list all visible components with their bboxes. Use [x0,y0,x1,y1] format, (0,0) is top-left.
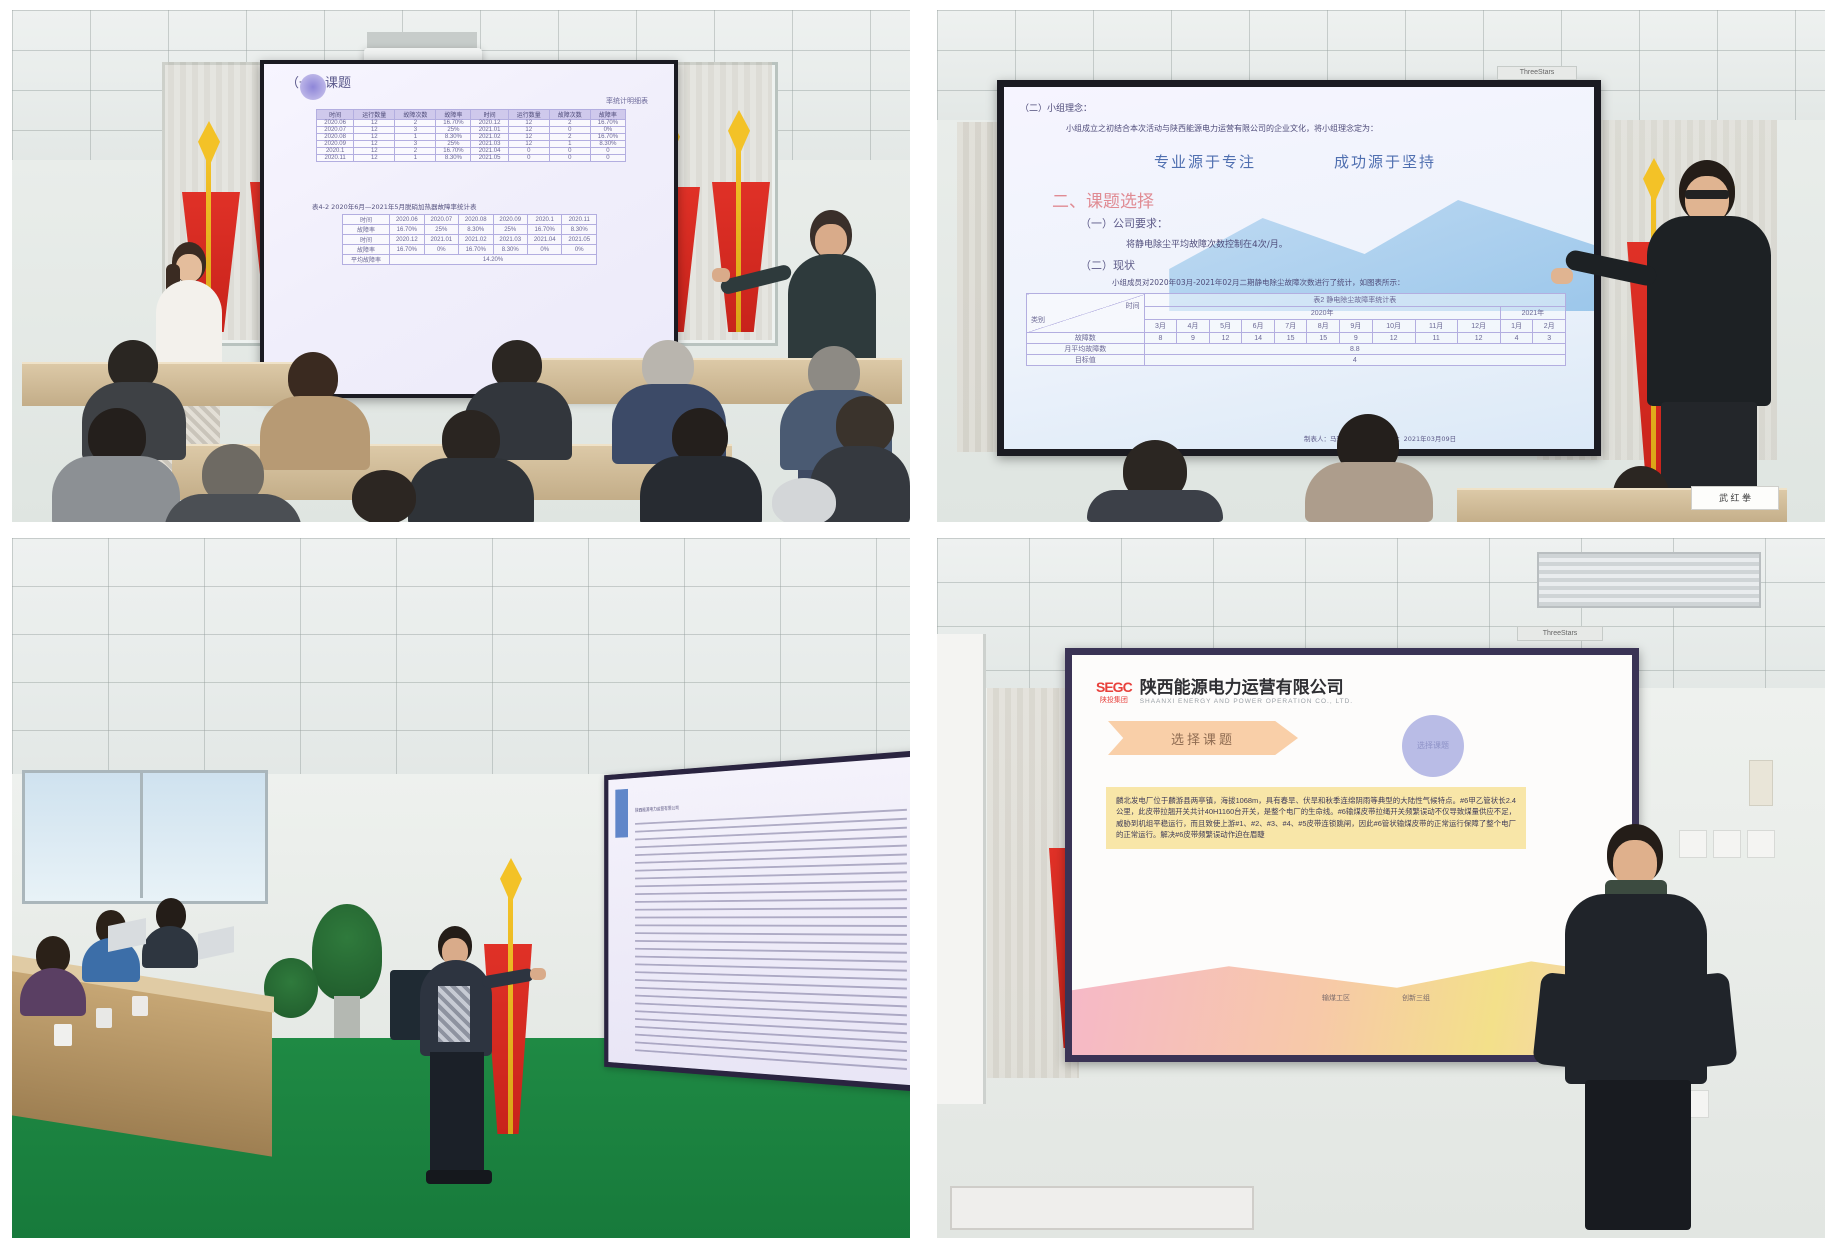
photo-bottom-right: SEGC 陕投集团 陕西能源电力运营有限公司 SHAANXI ENERGY AN… [937,538,1825,1238]
slide-tl-th: 故障率 [590,110,625,120]
table-row: 时间2020.062020.072020.082020.092020.12020… [343,215,597,225]
slide-br-badge: 选择课题 [1402,715,1464,777]
photo-top-left: （一）课题 率统计明细表 时间运行数量故障次数故障率时间运行数量故障次数故障率2… [12,10,910,522]
slide-br-footer-right: 创新三组 [1402,993,1430,1003]
photo-collage: （一）课题 率统计明细表 时间运行数量故障次数故障率时间运行数量故障次数故障率2… [0,0,1837,1249]
wall-socket [1747,830,1775,858]
projector-mount [367,32,477,48]
table-row: 2020.111218.30%2021.05000 [317,155,626,162]
slide-br-body-block: 麟北发电厂位于麟游县两亭镇，海拔1068m，具有春旱、伏旱和秋季连绵阴雨等典型的… [1106,787,1526,849]
cup [54,1024,72,1046]
company-en: SHAANXI ENERGY AND POWER OPERATION CO., … [1140,698,1353,705]
table-row-summary: 平均故障率14.20% [343,255,597,265]
table-row: 2020.081218.30%2021.0212216.70% [317,134,626,141]
table-row: 故障率16.70%25%8.30%25%16.70%8.30% [343,225,597,235]
slide-tr-status-label: （二）现状 [1080,257,1135,273]
ink-blot-decoration [300,74,326,100]
projector-brand-label: ThreeStars [1517,626,1603,641]
glasses [1685,190,1729,199]
plant-foliage [312,904,382,1000]
slide-tr: （二）小组理念： 小组成立之初结合本次活动与陕西能源电力运营有限公司的企业文化，… [1004,87,1594,449]
slide-tr-line1: （二）小组理念： [1020,101,1092,114]
slide-tl-th: 故障率 [436,110,471,120]
cup [96,1008,112,1028]
slide-tr-status-text: 小组成员对2020年03月-2021年02月二期静电除尘故障次数进行了统计，如图… [1112,277,1404,288]
slide-tr-req-label: （一）公司要求： [1080,215,1168,231]
slide-bl-sidebar-tag [615,789,628,838]
table-row: 2020.0712325%2021.011200% [317,127,626,134]
table-row: 月平均故障数8.8 [1027,344,1566,355]
mountain-decoration [1169,161,1594,311]
slide-tr-line2: 小组成立之初结合本次活动与陕西能源电力运营有限公司的企业文化，将小组理念定为： [1066,123,1378,134]
table-row: 时间2020.122021.012021.022021.032021.04202… [343,235,597,245]
arm-left [1532,972,1587,1068]
arm-right [1684,972,1737,1068]
slide-br-brand: SEGC 陕投集团 陕西能源电力运营有限公司 SHAANXI ENERGY AN… [1096,673,1353,705]
window [22,770,268,904]
slide-tr-motto-right: 成功源于坚持 [1334,151,1436,172]
projection-screen-tr: （二）小组理念： 小组成立之初结合本次活动与陕西能源电力运营有限公司的企业文化，… [997,80,1601,456]
table-row: 时间类别表2 静电除尘故障率统计表 [1027,294,1566,307]
company-cn: 陕西能源电力运营有限公司 [1140,673,1353,698]
presenter-male [1547,824,1727,1238]
table-row: 故障数8912141515912111243 [1027,333,1566,344]
slide-tl-th: 运行数量 [508,110,549,120]
brand-abbr: SEGC [1096,679,1132,695]
lower-cabinet [950,1186,1254,1230]
slide-br-banner: 选择课题 [1108,721,1298,755]
sweater-pattern [438,986,470,1042]
banner-label: 选择课题 [1171,729,1235,748]
window-mullion [140,770,143,898]
cup [132,996,148,1016]
projector-brand-label: ThreeStars [1497,66,1577,80]
slide-tl-table-summary: 时间2020.062020.072020.082020.092020.12020… [342,214,597,265]
slide-tl-th: 故障次数 [395,110,436,120]
slide-tr-req-text: 将静电除尘平均故障次数控制在4次/月。 [1126,237,1288,250]
slide-tl-table-detail: 时间运行数量故障次数故障率时间运行数量故障次数故障率2020.0612216.7… [316,109,626,162]
plant-pot [334,996,360,1038]
wall-sign [1749,760,1773,806]
photo-top-right: （二）小组理念： 小组成立之初结合本次活动与陕西能源电力运营有限公司的企业文化，… [937,10,1825,522]
slide-br-body-text: 麟北发电厂位于麟游县两亭镇，海拔1068m，具有春旱、伏旱和秋季连绵阴雨等典型的… [1116,795,1516,841]
projection-screen-bl: 陕西能源电力运营有限公司 [604,750,910,1092]
slide-tl-th: 时间 [317,110,354,120]
air-vent [1537,552,1761,608]
table-row: 2020.0912325%2021.031218.30% [317,141,626,148]
slide-tl-table2-caption: 表4-2 2020年6月—2021年5月脱硝加热器故障率统计表 [312,201,477,211]
slide-tl-th: 时间 [471,110,508,120]
adjacent-screen [937,634,986,1104]
slide-tr-section-title: 二、课题选择 [1052,187,1154,212]
slide-tr-motto-left: 专业源于专注 [1154,151,1256,172]
table-row: 2020.0612216.70%2020.1212216.70% [317,120,626,127]
photo-bottom-left: 陕西能源电力运营有限公司 [12,538,910,1238]
presenter-male [404,926,514,1206]
ceiling [12,538,910,774]
slide-tr-fault-table: 时间类别表2 静电除尘故障率统计表2020年2021年3月4月5月6月7月8月9… [1026,293,1566,366]
slide-bl-note: 陕西能源电力运营有限公司 [635,793,877,814]
table-row: 2020.112216.70%2021.04000 [317,148,626,155]
badge-text: 选择课题 [1417,742,1449,751]
audience-area [12,340,910,522]
slide-tl-th: 故障次数 [549,110,590,120]
slide-br-footer-left: 输煤工区 [1322,993,1350,1003]
nameplate: 武 红 拳 [1691,486,1779,510]
table-row: 故障率16.70%0%16.70%8.30%0%0% [343,245,597,255]
ceiling-grid [12,538,910,774]
audience-body [1305,462,1433,522]
audience-body [1087,490,1223,522]
slide-bl-paragraph-lines [635,809,907,1075]
brand-sub-cn: 陕投集团 [1096,695,1132,705]
slide-tl-subtitle: 率统计明细表 [606,96,648,106]
slide-tl-th: 运行数量 [354,110,395,120]
table-row: 目标值4 [1027,355,1566,366]
